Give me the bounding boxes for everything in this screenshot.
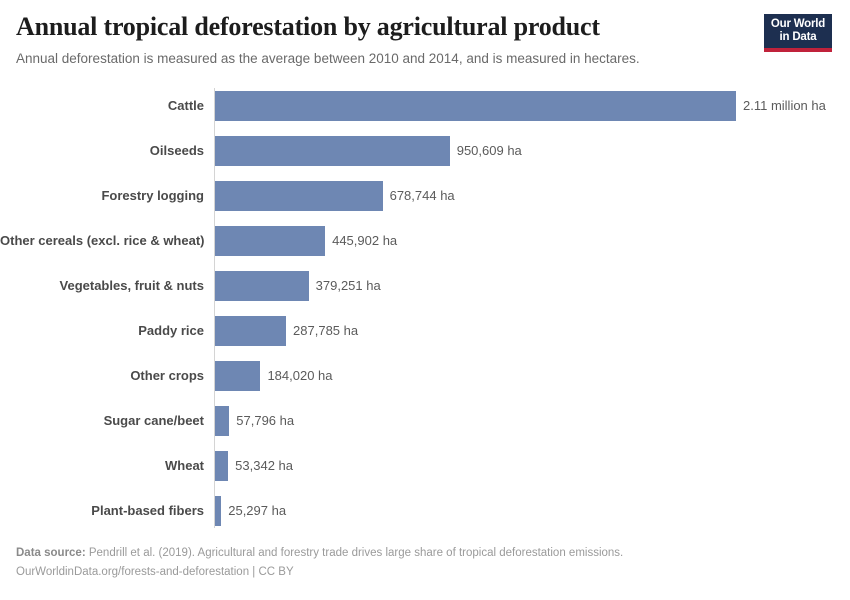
bar-track: 53,342 ha xyxy=(215,451,736,481)
bar[interactable] xyxy=(215,451,228,481)
bar-category-label: Oilseeds xyxy=(0,136,204,166)
bar-row[interactable]: Vegetables, fruit & nuts379,251 ha xyxy=(0,271,850,301)
bar-row[interactable]: Cattle2.11 million ha xyxy=(0,91,850,121)
bar-category-label: Other cereals (excl. rice & wheat) xyxy=(0,226,204,256)
bar-value-label: 53,342 ha xyxy=(228,451,293,481)
bar-category-label: Plant-based fibers xyxy=(0,496,204,526)
bar-track: 287,785 ha xyxy=(215,316,736,346)
bar-value-label: 57,796 ha xyxy=(229,406,294,436)
bar-row[interactable]: Other crops184,020 ha xyxy=(0,361,850,391)
bar-value-label: 184,020 ha xyxy=(260,361,332,391)
bar-row[interactable]: Oilseeds950,609 ha xyxy=(0,136,850,166)
bar[interactable] xyxy=(215,361,260,391)
bar-category-label: Sugar cane/beet xyxy=(0,406,204,436)
bar-track: 57,796 ha xyxy=(215,406,736,436)
bar-track: 25,297 ha xyxy=(215,496,736,526)
bar-category-label: Paddy rice xyxy=(0,316,204,346)
bar-value-label: 2.11 million ha xyxy=(736,91,826,121)
bar-track: 184,020 ha xyxy=(215,361,736,391)
bar[interactable] xyxy=(215,406,229,436)
bar-value-label: 287,785 ha xyxy=(286,316,358,346)
data-source-label: Data source: xyxy=(16,547,86,559)
bar-track: 379,251 ha xyxy=(215,271,736,301)
license-line[interactable]: OurWorldinData.org/forests-and-deforesta… xyxy=(16,563,834,582)
chart-subtitle: Annual deforestation is measured as the … xyxy=(16,50,834,68)
bar-value-label: 445,902 ha xyxy=(325,226,397,256)
chart-container: Annual tropical deforestation by agricul… xyxy=(0,0,850,600)
bar-track: 2.11 million ha xyxy=(215,91,736,121)
chart-footer: Data source: Pendrill et al. (2019). Agr… xyxy=(16,544,834,582)
bar[interactable] xyxy=(215,181,383,211)
bar-value-label: 678,744 ha xyxy=(383,181,455,211)
logo-line-1: Our World xyxy=(769,18,827,31)
bar-category-label: Forestry logging xyxy=(0,181,204,211)
bar[interactable] xyxy=(215,226,325,256)
bar-category-label: Cattle xyxy=(0,91,204,121)
bar-track: 950,609 ha xyxy=(215,136,736,166)
bar-row[interactable]: Wheat53,342 ha xyxy=(0,451,850,481)
bar[interactable] xyxy=(215,271,309,301)
data-source-line: Data source: Pendrill et al. (2019). Agr… xyxy=(16,544,834,563)
bar-row[interactable]: Sugar cane/beet57,796 ha xyxy=(0,406,850,436)
bar-value-label: 950,609 ha xyxy=(450,136,522,166)
bar-row[interactable]: Other cereals (excl. rice & wheat)445,90… xyxy=(0,226,850,256)
page-title: Annual tropical deforestation by agricul… xyxy=(16,12,834,42)
our-world-in-data-logo[interactable]: Our World in Data xyxy=(764,14,832,52)
bar-category-label: Other crops xyxy=(0,361,204,391)
bar[interactable] xyxy=(215,136,450,166)
bar-row[interactable]: Paddy rice287,785 ha xyxy=(0,316,850,346)
bar-category-label: Vegetables, fruit & nuts xyxy=(0,271,204,301)
bar-row[interactable]: Forestry logging678,744 ha xyxy=(0,181,850,211)
bar-category-label: Wheat xyxy=(0,451,204,481)
bar-track: 678,744 ha xyxy=(215,181,736,211)
logo-line-2: in Data xyxy=(769,31,827,44)
bar[interactable] xyxy=(215,91,736,121)
bar-row[interactable]: Plant-based fibers25,297 ha xyxy=(0,496,850,526)
bar[interactable] xyxy=(215,316,286,346)
bar-value-label: 379,251 ha xyxy=(309,271,381,301)
data-source-text: Pendrill et al. (2019). Agricultural and… xyxy=(86,547,624,559)
bar-track: 445,902 ha xyxy=(215,226,736,256)
bar-value-label: 25,297 ha xyxy=(221,496,286,526)
plot-area: Cattle2.11 million haOilseeds950,609 haF… xyxy=(0,88,850,533)
chart-header: Annual tropical deforestation by agricul… xyxy=(16,12,834,76)
